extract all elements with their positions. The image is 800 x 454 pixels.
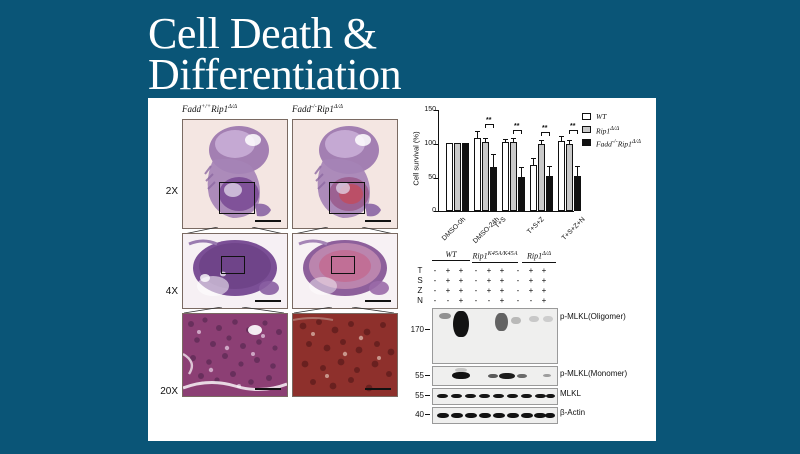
scale-bar — [255, 388, 281, 390]
legend-label-rip1: Rip1Δ/Δ — [596, 125, 619, 136]
legend-item-fadd-rip1: Fadd-/-Rip1Δ/Δ — [582, 138, 658, 149]
histology-image-4x-wildtype — [182, 233, 288, 309]
blot-label-pmlkl-oligomer: p-MLKL(Oligomer) — [560, 312, 626, 321]
mw-marker-170: 170 — [404, 325, 424, 334]
chart-ytick-100: 100 — [414, 140, 436, 147]
treatment-name-s: S — [414, 276, 426, 285]
histology-image-20x-knockout — [292, 313, 398, 397]
blot-label-mlkl: MLKL — [560, 389, 581, 398]
bar-fadd-rip1 — [518, 177, 525, 211]
magnification-label-2x: 2X — [152, 186, 178, 197]
chart-y-axis-label: Cell survival (%) — [412, 113, 421, 205]
blot-genotype-headers: WT Rip1K45A/K45A Rip1Δ/Δ — [432, 250, 556, 264]
bar-rip1 — [454, 143, 461, 211]
chart-group-tszn: ** — [558, 110, 584, 211]
gel-image-pmlkl-oligomer — [432, 308, 558, 364]
chart-plot-area: 150 100 50 0 — [438, 110, 574, 212]
treatment-name-t: T — [414, 266, 426, 275]
significance-marker: ** — [486, 117, 491, 124]
chart-group-dmso-0h — [446, 110, 472, 211]
chart-xtick-dmso-0h: DMSO-0h — [441, 216, 467, 242]
histology-image-20x-wildtype — [182, 313, 288, 397]
significance-marker: ** — [514, 123, 519, 130]
legend-label-fadd-rip1: Fadd-/-Rip1Δ/Δ — [596, 138, 641, 149]
chart-y-axis — [438, 110, 439, 212]
bar-rip1 — [510, 142, 517, 211]
roi-box-2x-knockout — [329, 182, 365, 214]
mw-marker-55a: 55 — [404, 371, 424, 380]
bar-wt — [558, 141, 565, 211]
chart-xtick-tsz: T+S+Z — [526, 216, 546, 236]
bar-wt — [474, 138, 481, 211]
right-column: Cell survival (%) 150 100 50 0 — [404, 100, 654, 438]
cell-survival-bar-chart: Cell survival (%) 150 100 50 0 — [404, 104, 654, 252]
mw-marker-40: 40 — [404, 410, 424, 419]
bar-wt — [502, 142, 509, 211]
journal-title-line2: Differentiation — [148, 55, 668, 96]
chart-ytick-50: 50 — [414, 174, 436, 181]
chart-x-axis — [438, 211, 574, 212]
treatment-name-z: Z — [414, 286, 426, 295]
legend-swatch-wt — [582, 113, 591, 120]
mw-marker-55b: 55 — [404, 391, 424, 400]
figure-card: Fadd+/+Rip1Δ/Δ Fadd-/-Rip1Δ/Δ 2X 4X 20X — [148, 98, 656, 441]
legend-swatch-fadd-rip1 — [582, 139, 591, 146]
scale-bar — [255, 300, 281, 302]
histology-column-headers: Fadd+/+Rip1Δ/Δ Fadd-/-Rip1Δ/Δ — [180, 103, 398, 117]
roi-box-4x-knockout — [331, 256, 355, 274]
bar-fadd-rip1 — [574, 176, 581, 211]
chart-ytick-150: 150 — [414, 106, 436, 113]
bar-rip1 — [566, 144, 573, 211]
blot-header-wt: WT — [432, 250, 470, 261]
histology-header-knockout: Fadd-/-Rip1Δ/Δ — [292, 103, 343, 114]
histology-image-2x-wildtype — [182, 119, 288, 229]
bar-rip1 — [482, 142, 489, 211]
journal-masthead: Cell Death & Differentiation — [148, 14, 668, 96]
chart-ytick-0: 0 — [414, 207, 436, 214]
legend-item-rip1: Rip1Δ/Δ — [582, 125, 658, 136]
chart-group-tsz: ** — [530, 110, 556, 211]
histology-header-wildtype: Fadd+/+Rip1Δ/Δ — [182, 103, 237, 114]
scale-bar — [365, 388, 391, 390]
roi-box-2x-wildtype — [219, 182, 255, 214]
legend-label-wt: WT — [596, 112, 606, 121]
chart-legend: WT Rip1Δ/Δ Fadd-/-Rip1Δ/Δ — [582, 112, 658, 151]
blot-header-rip1-delta: Rip1Δ/Δ — [522, 250, 556, 263]
magnification-label-20x: 20X — [152, 386, 178, 397]
blot-label-beta-actin: β-Actin — [560, 408, 585, 417]
bar-wt — [530, 165, 537, 211]
histology-panel-group: Fadd+/+Rip1Δ/Δ Fadd-/-Rip1Δ/Δ 2X 4X 20X — [150, 100, 402, 438]
significance-marker: ** — [542, 125, 547, 132]
chart-xtick-tszn: T+S+Z+N — [561, 216, 587, 242]
roi-box-4x-wildtype — [221, 256, 245, 274]
gel-image-pmlkl-monomer — [432, 366, 558, 386]
western-blot-panel: WT Rip1K45A/K45A Rip1Δ/Δ T - + + - + + -… — [404, 250, 654, 438]
histology-image-2x-knockout — [292, 119, 398, 229]
histology-image-4x-knockout — [292, 233, 398, 309]
gel-image-mlkl — [432, 388, 558, 405]
scale-bar — [365, 220, 391, 222]
bar-fadd-rip1 — [546, 176, 553, 211]
bar-fadd-rip1 — [462, 143, 469, 211]
chart-group-dmso-24h: ** — [474, 110, 500, 211]
blot-header-rip1-k45a: Rip1K45A/K45A — [472, 250, 518, 263]
magnification-label-4x: 4X — [152, 286, 178, 297]
legend-swatch-rip1 — [582, 126, 591, 133]
significance-marker: ** — [570, 123, 575, 130]
treatment-name-n: N — [414, 296, 426, 305]
bar-fadd-rip1 — [490, 167, 497, 211]
scale-bar — [365, 300, 391, 302]
blot-label-pmlkl-monomer: p-MLKL(Monomer) — [560, 369, 627, 378]
bar-rip1 — [538, 144, 545, 211]
chart-group-ts: ** — [502, 110, 528, 211]
bar-wt — [446, 143, 453, 211]
cover-canvas: Cell Death & Differentiation Fadd+/+Rip1… — [0, 0, 800, 454]
legend-item-wt: WT — [582, 112, 658, 123]
gel-image-beta-actin — [432, 407, 558, 424]
scale-bar — [255, 220, 281, 222]
